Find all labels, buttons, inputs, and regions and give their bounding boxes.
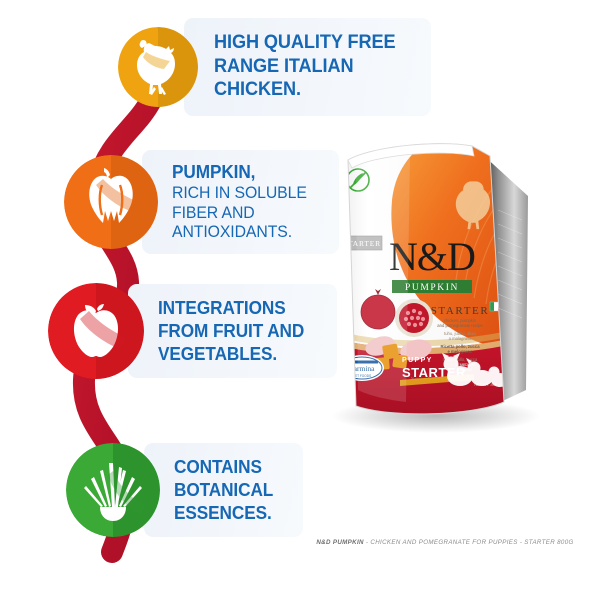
callout-fruit-line-3: VEGETABLES.: [158, 342, 304, 365]
callout-fruit: INTEGRATIONS FROM FRUIT AND VEGETABLES.: [48, 283, 337, 379]
callout-chicken: HIGH QUALITY FREE RANGE ITALIAN CHICKEN.: [118, 18, 431, 116]
infographic-canvas: HIGH QUALITY FREE RANGE ITALIAN CHICKEN.: [0, 0, 600, 600]
svg-text:a malagrass: a malagrass: [449, 336, 472, 341]
callout-pumpkin: PUMPKIN, RICH IN SOLUBLE FIBER AND ANTIO…: [64, 150, 339, 254]
callout-fruit-line-2: FROM FRUIT AND: [158, 319, 304, 342]
apple-icon: [48, 283, 144, 379]
chicken-icon: [118, 27, 198, 107]
callout-botanical-line-1: CONTAINS: [174, 455, 273, 478]
callout-botanical-line-3: ESSENCES.: [174, 501, 273, 524]
pumpkin-icon: [64, 155, 158, 249]
callout-chicken-textbox: HIGH QUALITY FREE RANGE ITALIAN CHICKEN.: [184, 18, 431, 116]
svg-text:STARTER: STARTER: [431, 305, 490, 317]
callout-pumpkin-line-1: PUMPKIN,: [172, 161, 307, 183]
svg-text:and pomegranate recipe: and pomegranate recipe: [437, 323, 483, 328]
callout-fruit-line-1: INTEGRATIONS: [158, 296, 304, 319]
product-package: STARTER N&D PUMPKIN STARTER: [332, 140, 572, 440]
callout-chicken-line-1: HIGH QUALITY FREE: [214, 31, 395, 55]
caption-strong: N&D PUMPKIN: [316, 539, 364, 546]
callout-pumpkin-line-3: FIBER AND: [172, 203, 307, 223]
callout-chicken-line-3: CHICKEN.: [214, 78, 395, 102]
callout-botanical: CONTAINS BOTANICAL ESSENCES.: [66, 443, 303, 537]
callout-fruit-textbox: INTEGRATIONS FROM FRUIT AND VEGETABLES.: [128, 284, 337, 378]
callout-botanical-textbox: CONTAINS BOTANICAL ESSENCES.: [144, 443, 303, 537]
herbs-icon: [66, 443, 160, 537]
svg-text:e melograno: e melograno: [448, 349, 473, 354]
product-caption: N&D PUMPKIN - CHICKEN AND POMEGRANATE FO…: [300, 539, 590, 546]
svg-text:PUMPKIN: PUMPKIN: [405, 283, 459, 293]
callout-botanical-line-2: BOTANICAL: [174, 478, 273, 501]
callout-pumpkin-line-4: ANTIOXIDANTS.: [172, 222, 307, 242]
caption-rest: - CHICKEN AND POMEGRANATE FOR PUPPIES - …: [364, 539, 574, 546]
callout-pumpkin-textbox: PUMPKIN, RICH IN SOLUBLE FIBER AND ANTIO…: [142, 150, 339, 254]
callout-chicken-line-2: RANGE ITALIAN: [214, 55, 395, 79]
callout-pumpkin-line-2: RICH IN SOLUBLE: [172, 183, 307, 203]
